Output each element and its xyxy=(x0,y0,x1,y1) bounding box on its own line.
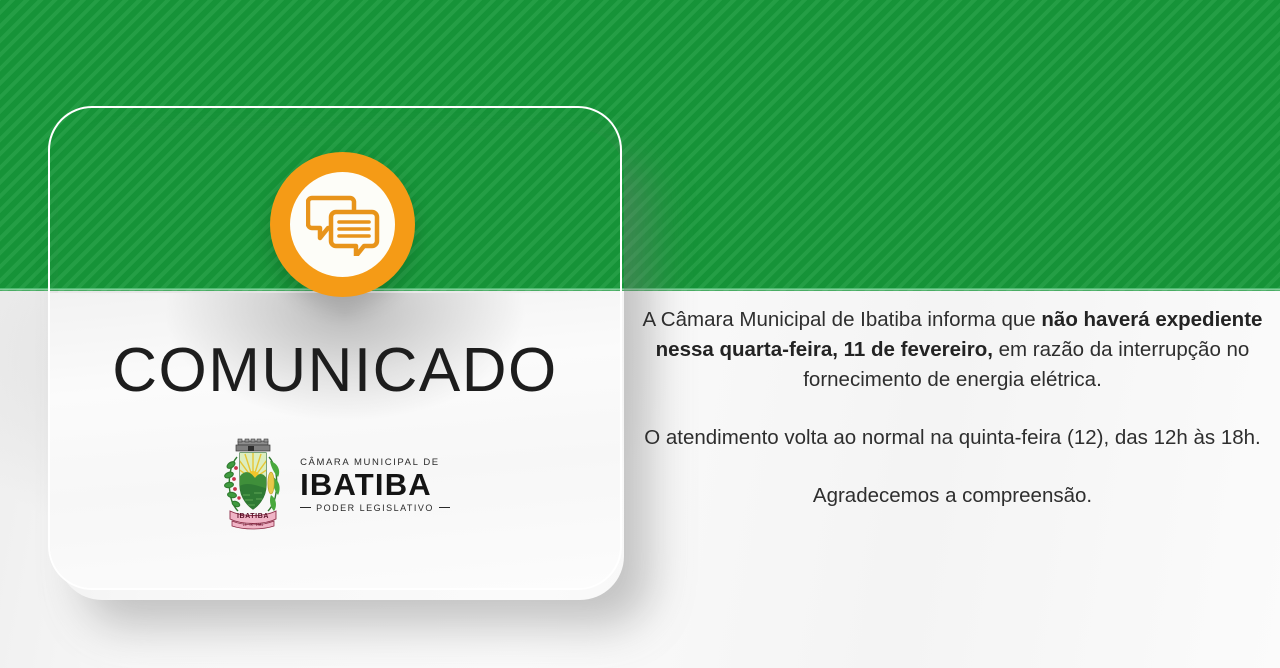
brand-logo: IBATIBA 14 · IX · 1981 CÂMARA MUNICIPAL … xyxy=(48,437,622,532)
announcement-graphic: COMUNICADO xyxy=(0,0,1280,668)
message-paragraph-1: A Câmara Municipal de Ibatiba informa qu… xyxy=(640,305,1265,395)
brand-line-poder-legislativo-label: PODER LEGISLATIVO xyxy=(316,503,434,513)
brand-line-ibatiba: IBATIBA xyxy=(300,469,432,500)
brand-text: CÂMARA MUNICIPAL DE IBATIBA PODER LEGISL… xyxy=(300,457,450,513)
svg-text:IBATIBA: IBATIBA xyxy=(237,513,269,520)
svg-text:14 · IX · 1981: 14 · IX · 1981 xyxy=(243,523,264,527)
message-spacer-1 xyxy=(640,395,1265,423)
brand-line-poder-legislativo: PODER LEGISLATIVO xyxy=(300,503,450,513)
page-title: COMUNICADO xyxy=(48,340,622,402)
message-paragraph-2: O atendimento volta ao normal na quinta-… xyxy=(640,423,1265,453)
announcement-message: A Câmara Municipal de Ibatiba informa qu… xyxy=(640,305,1265,511)
message-spacer-2 xyxy=(640,453,1265,481)
ibatiba-coat-of-arms-icon: IBATIBA 14 · IX · 1981 xyxy=(220,437,286,532)
brand-line-camara: CÂMARA MUNICIPAL DE xyxy=(300,457,440,468)
chat-badge xyxy=(270,152,415,297)
chat-bubbles-icon xyxy=(306,194,380,256)
message-paragraph-3: Agradecemos a compreensão. xyxy=(640,481,1265,511)
chat-badge-inner xyxy=(290,172,395,277)
message-p1-part1: A Câmara Municipal de Ibatiba informa qu… xyxy=(643,308,1042,331)
dash-right-icon xyxy=(439,507,450,508)
dash-left-icon xyxy=(300,507,311,508)
